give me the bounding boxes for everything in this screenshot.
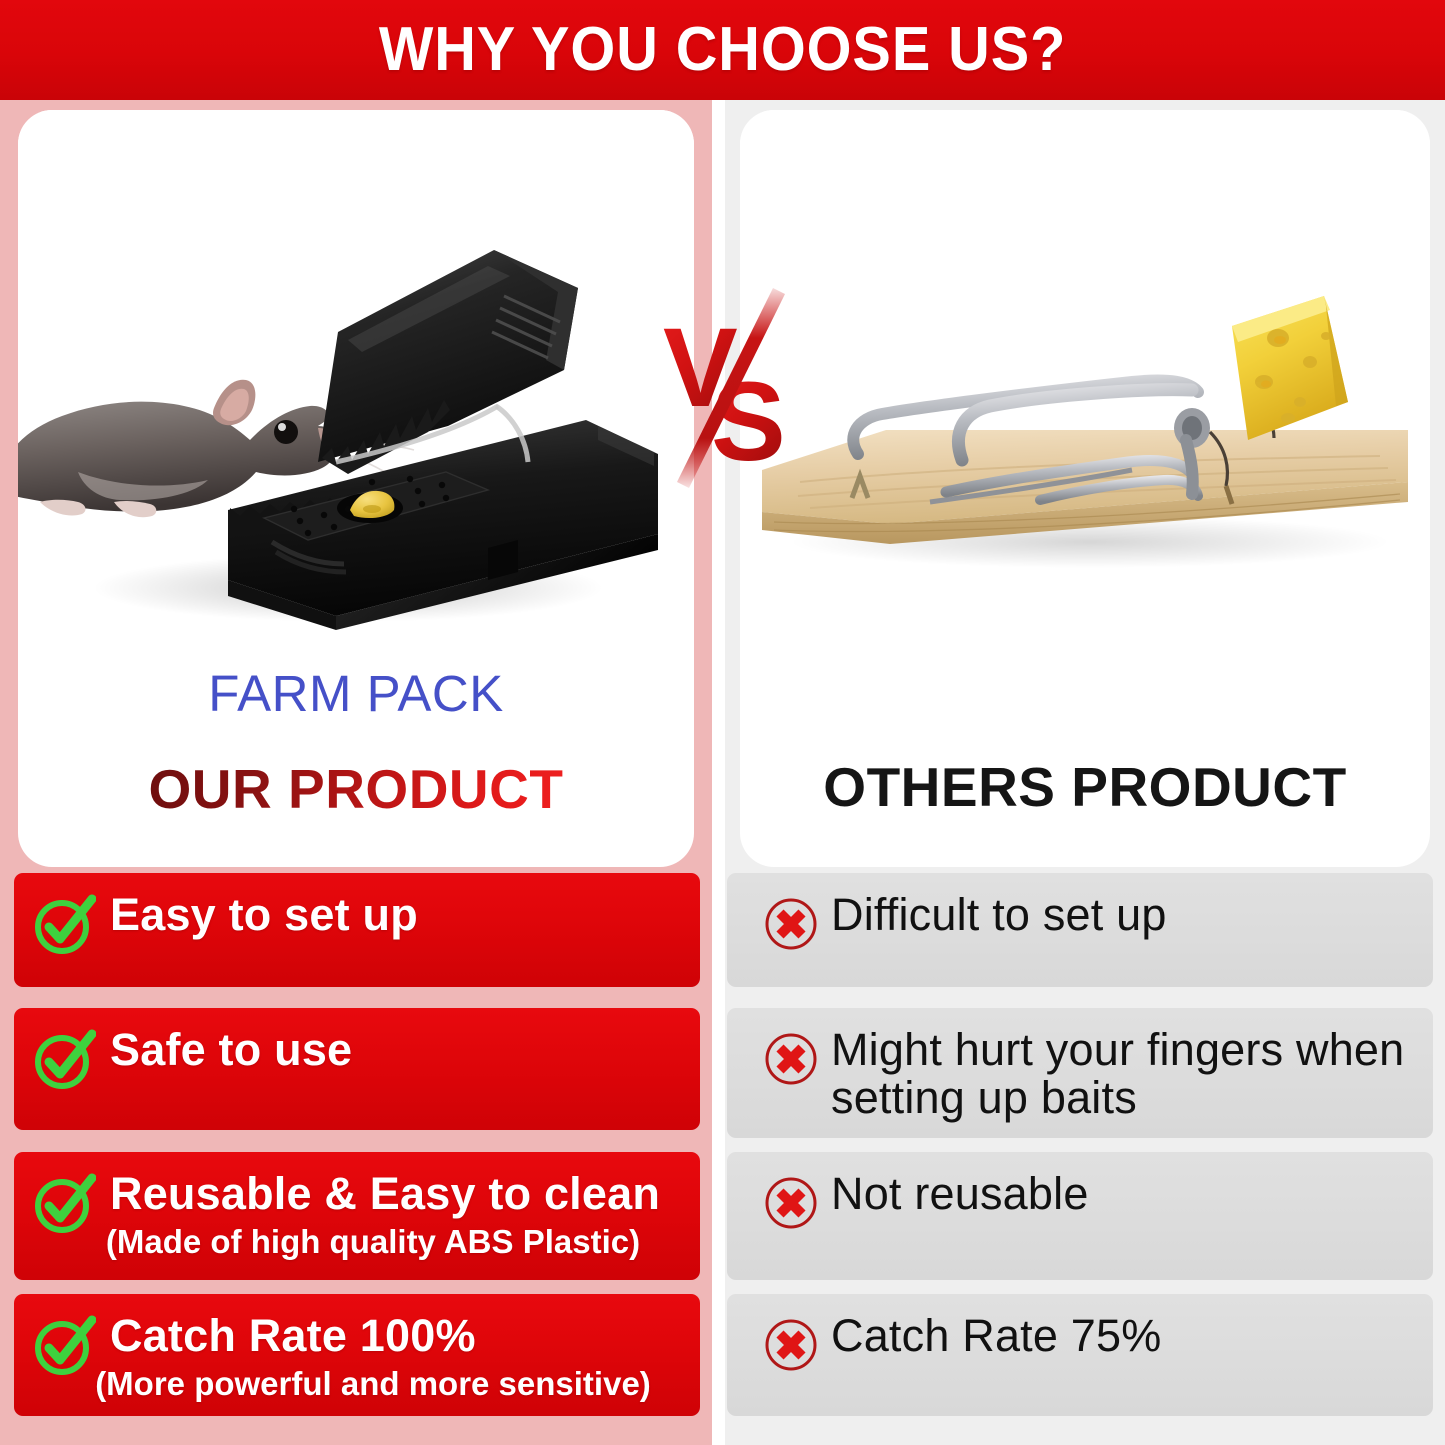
feature-main-text: Easy to set up [110,891,690,939]
vs-letter-s: S [711,359,786,484]
feature-main-text: Might hurt your fingers when setting up … [831,1026,1423,1122]
feature-text: Difficult to set up [819,891,1423,939]
others-feature-row: Catch Rate 75% [727,1294,1433,1416]
feature-text: Catch Rate 100% (More powerful and more … [96,1312,690,1402]
feature-main-text: Reusable & Easy to clean [110,1170,690,1218]
feature-text: Catch Rate 75% [819,1312,1423,1360]
feature-main-text: Catch Rate 100% [110,1312,690,1360]
feature-sub-text: (Made of high quality ABS Plastic) [56,1224,690,1260]
ours-feature-row: Reusable & Easy to clean (Made of high q… [14,1152,700,1280]
vs-badge: V S VS [655,288,805,488]
others-feature-row: Difficult to set up [727,873,1433,987]
feature-main-text: Catch Rate 75% [831,1312,1423,1360]
ours-feature-row: Catch Rate 100% (More powerful and more … [14,1294,700,1416]
red-cross-icon [763,1175,819,1231]
ours-feature-row: Easy to set up [14,873,700,987]
comparison-poster: WHY YOU CHOOSE US? [0,0,1445,1445]
feature-main-text: Difficult to set up [831,891,1423,939]
page-title: WHY YOU CHOOSE US? [379,19,1066,81]
ours-feature-row: Safe to use [14,1008,700,1130]
feature-text: Reusable & Easy to clean (Made of high q… [96,1170,690,1260]
feature-sub-text: (More powerful and more sensitive) [56,1366,690,1402]
header-banner: WHY YOU CHOOSE US? [0,0,1445,100]
red-cross-icon [763,1031,819,1087]
feature-main-text: Not reusable [831,1170,1423,1218]
green-check-icon [32,1028,96,1092]
others-feature-row: Not reusable [727,1152,1433,1280]
feature-main-text: Safe to use [110,1026,690,1074]
feature-rows-layer: Easy to set up Safe to use Reusable & Ea… [0,0,1445,1445]
red-cross-icon [763,1317,819,1373]
feature-text: Easy to set up [96,891,690,939]
others-feature-row: Might hurt your fingers when setting up … [727,1008,1433,1138]
green-check-icon [32,893,96,957]
feature-text: Safe to use [96,1026,690,1074]
feature-text: Might hurt your fingers when setting up … [819,1026,1423,1122]
red-cross-icon [763,896,819,952]
feature-text: Not reusable [819,1170,1423,1218]
